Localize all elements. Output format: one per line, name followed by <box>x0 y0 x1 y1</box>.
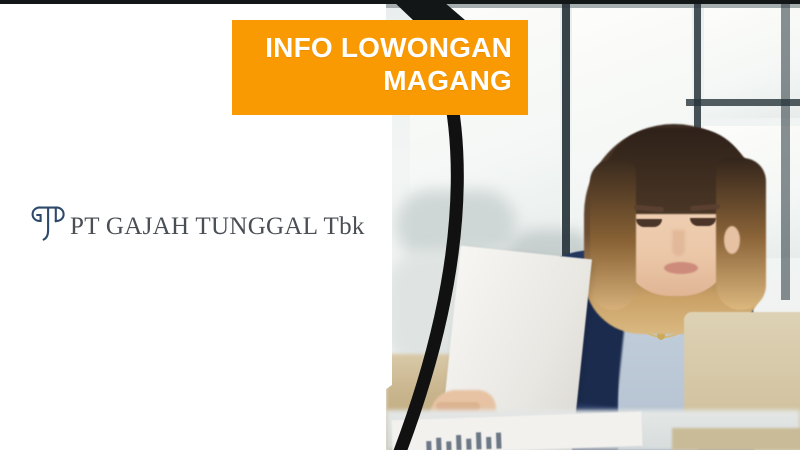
banner-title: INFO LOWONGAN MAGANG <box>265 32 512 97</box>
eye <box>636 219 662 227</box>
nose <box>672 230 685 256</box>
laptop-base <box>672 428 800 450</box>
lips <box>664 262 698 274</box>
info-banner: INFO LOWONGAN MAGANG <box>232 20 528 115</box>
company-name-text: PT GAJAH TUNGGAL Tbk <box>70 214 365 242</box>
hair-side <box>590 160 636 310</box>
company-logo: PT GAJAH TUNGGAL Tbk <box>28 200 365 242</box>
eye <box>690 218 716 226</box>
poster-canvas: INFO LOWONGAN MAGANG PT GAJAH TUNGGAL Tb… <box>0 0 800 450</box>
ear <box>724 226 740 254</box>
hair-side <box>716 158 766 310</box>
gajah-tunggal-elephant-monogram-icon <box>28 200 68 242</box>
